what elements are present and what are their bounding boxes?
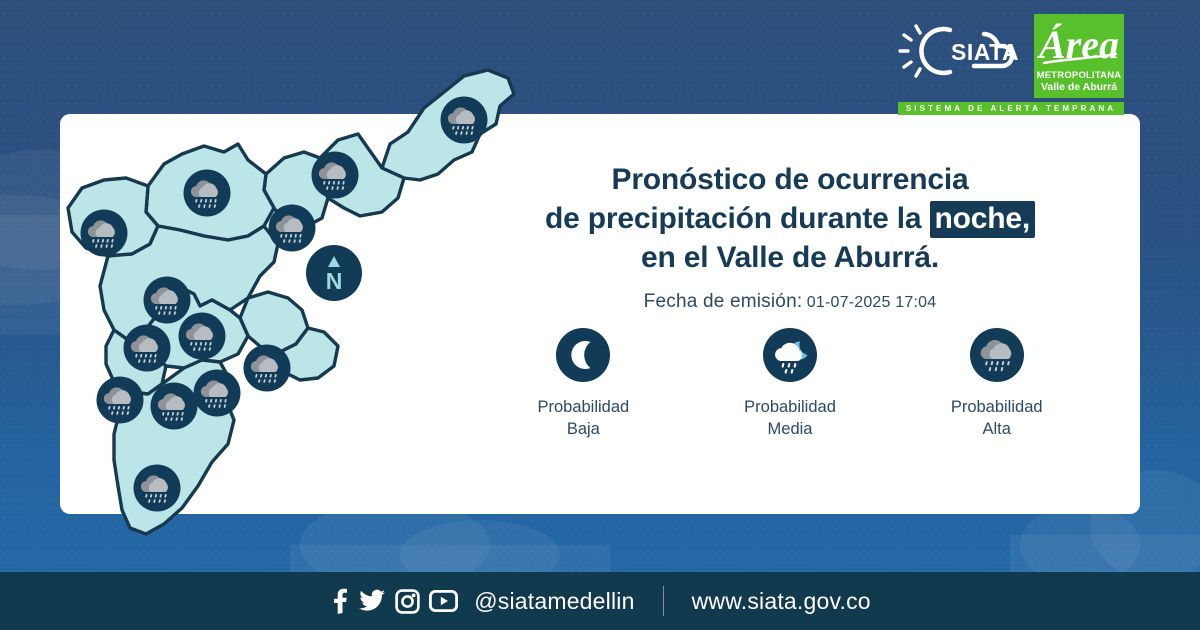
- cloud-heavy-rain-icon: [970, 328, 1024, 382]
- map-rain-pin: [269, 205, 316, 252]
- valle-de-aburra-map: N: [52, 48, 522, 568]
- map-rain-pin: [97, 377, 144, 424]
- title-line-2-text: de precipitación durante la: [545, 202, 921, 235]
- map-rain-pin: [124, 325, 171, 372]
- svg-text:N: N: [326, 268, 343, 294]
- twitter-icon[interactable]: [359, 589, 386, 613]
- map-rain-pin: [179, 313, 226, 360]
- probability-legend: Probabilidad Baja Probabilidad Media: [480, 328, 1100, 441]
- svg-text:Área: Área: [1036, 22, 1119, 67]
- area-logo-script: Área: [1034, 16, 1124, 72]
- compass-rose: N: [306, 245, 362, 301]
- footer-bar: @siatamedellin www.siata.gov.co: [0, 572, 1200, 630]
- legend-label-media: Probabilidad Media: [744, 396, 836, 441]
- siata-logo: SIATA: [898, 18, 1028, 88]
- issue-date: Fecha de emisión: 01-07-2025 17:04: [470, 291, 1110, 313]
- website-url[interactable]: www.siata.gov.co: [692, 588, 871, 615]
- social-icons: [329, 588, 458, 614]
- title-highlight-noche: noche,: [930, 201, 1035, 238]
- map-rain-pin: [312, 152, 359, 199]
- title-line-1: Pronóstico de ocurrencia: [470, 160, 1110, 199]
- issue-date-value: 01-07-2025 17:04: [807, 294, 937, 311]
- siata-logo-mark: SIATA: [898, 18, 1028, 88]
- title-line-2: de precipitación durante la noche,: [470, 199, 1110, 238]
- map-rain-pin: [194, 370, 241, 417]
- legend-item-alta: Probabilidad Alta: [893, 328, 1100, 441]
- map-rain-pin: [81, 210, 128, 257]
- footer-divider: [663, 586, 664, 616]
- map-rain-pin: [151, 383, 198, 430]
- infographic-root: SIATA Área METROPOLITANA Valle de Aburrá…: [0, 0, 1200, 630]
- issue-date-label: Fecha de emisión:: [644, 291, 803, 312]
- legend-item-media: Probabilidad Media: [687, 328, 894, 441]
- facebook-icon[interactable]: [329, 588, 350, 614]
- map-rain-pin: [441, 97, 488, 144]
- legend-label-baja: Probabilidad Baja: [537, 396, 629, 441]
- legend-label-alta: Probabilidad Alta: [951, 396, 1043, 441]
- page-title: Pronóstico de ocurrencia de precipitació…: [470, 160, 1110, 277]
- map-rain-pin: [184, 170, 231, 217]
- svg-text:SIATA: SIATA: [951, 39, 1019, 65]
- moon-icon: [556, 328, 610, 382]
- instagram-icon[interactable]: [395, 589, 420, 614]
- title-line-3: en el Valle de Aburrá.: [470, 238, 1110, 277]
- youtube-icon[interactable]: [429, 590, 458, 612]
- header-logos: SIATA Área METROPOLITANA Valle de Aburrá…: [898, 14, 1126, 110]
- social-handle[interactable]: @siatamedellin: [474, 588, 634, 615]
- alerta-temprana-bar: SISTEMA DE ALERTA TEMPRANA: [898, 102, 1124, 115]
- area-logo-sub1: METROPOLITANA: [1034, 70, 1124, 81]
- area-metropolitana-logo: Área METROPOLITANA Valle de Aburrá: [1034, 14, 1124, 98]
- headline-block: Pronóstico de ocurrencia de precipitació…: [470, 160, 1110, 313]
- map-rain-pin: [244, 345, 291, 392]
- area-logo-sub2: Valle de Aburrá: [1034, 81, 1124, 93]
- map-rain-pin: [134, 465, 181, 512]
- cloud-moon-rain-icon: [763, 328, 817, 382]
